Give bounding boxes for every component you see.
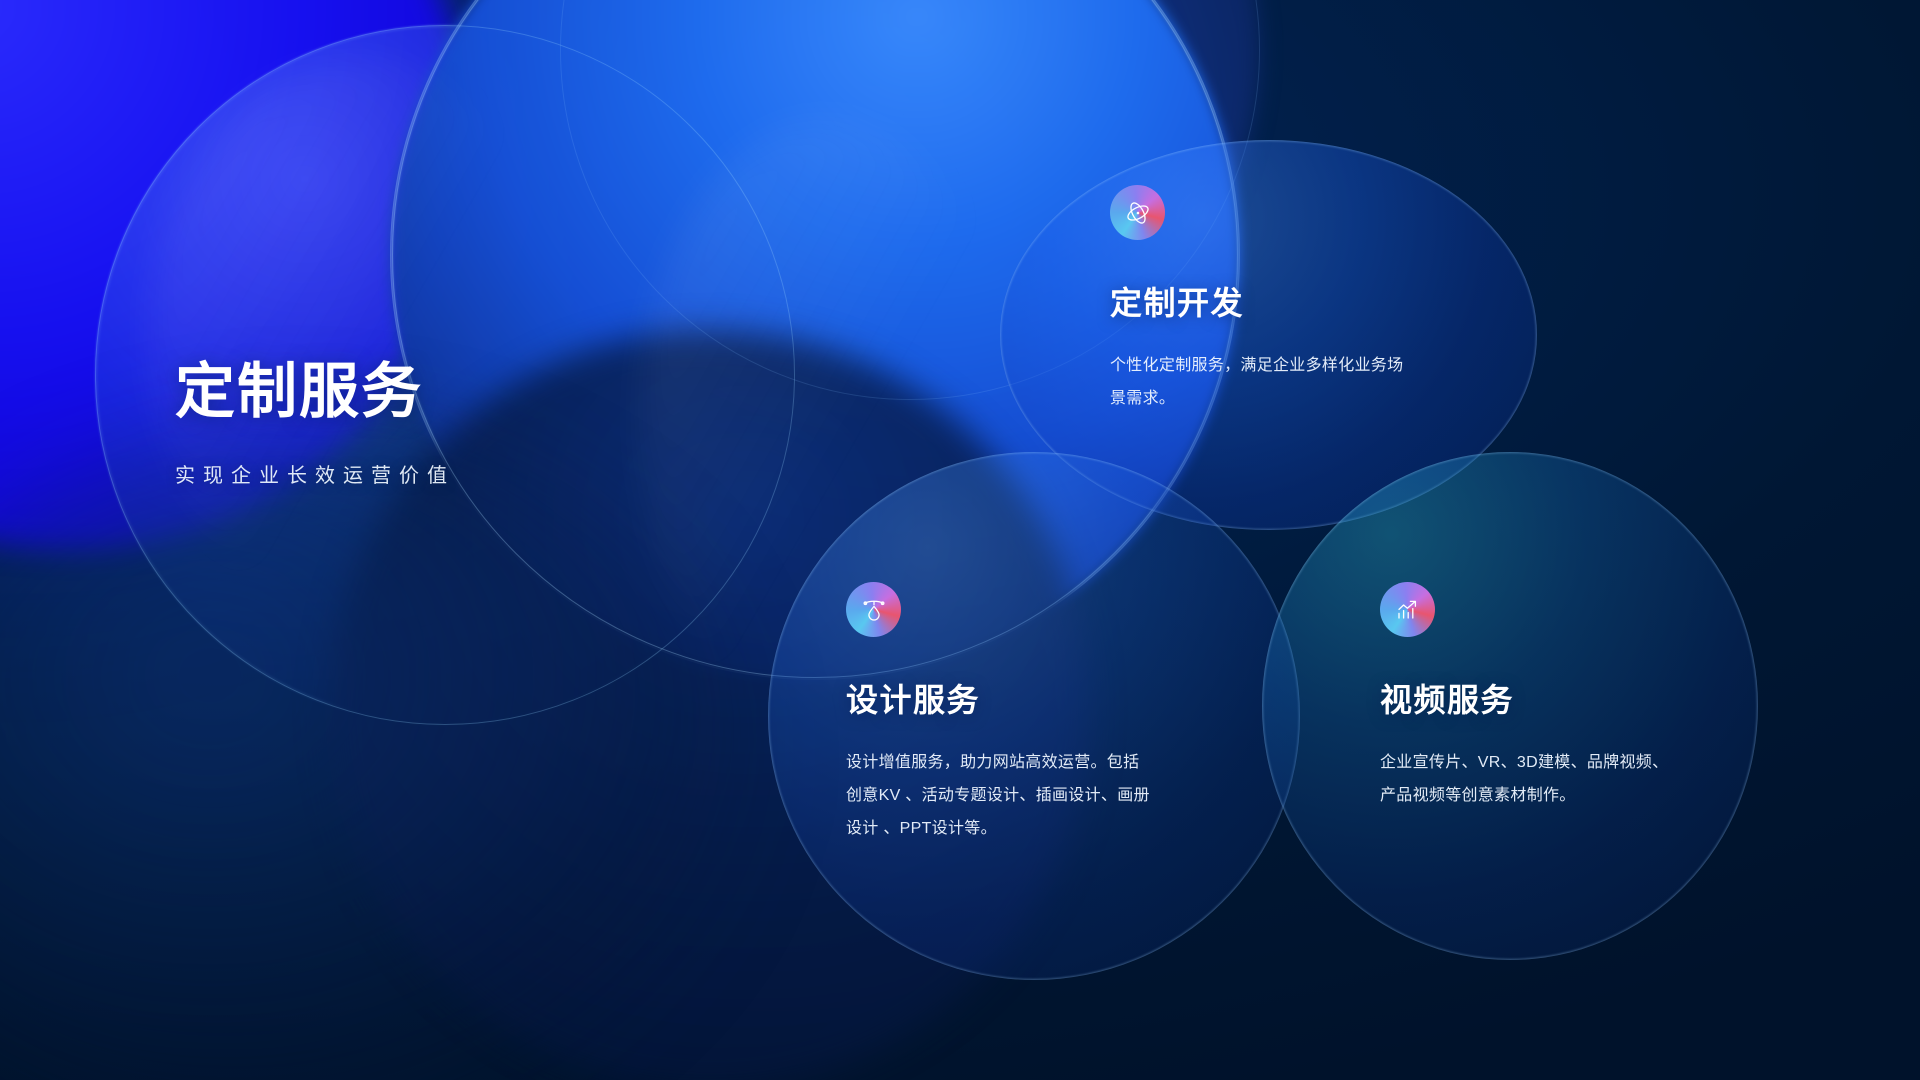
growth-chart-icon [1380, 582, 1435, 637]
card-description: 企业宣传片、VR、3D建模、品牌视频、产品视频等创意素材制作。 [1380, 747, 1680, 813]
card-description: 个性化定制服务，满足企业多样化业务场景需求。 [1110, 350, 1410, 416]
page-title: 定制服务 [175, 360, 455, 423]
hero-copy: 定制服务 实现企业长效运营价值 [175, 360, 455, 488]
pen-tool-ink-icon [846, 582, 901, 637]
card-title: 视频服务 [1380, 675, 1680, 721]
atom-orbit-glyph [1112, 187, 1164, 239]
page-subtitle: 实现企业长效运营价值 [175, 459, 455, 488]
service-card-video-service[interactable]: 视频服务 企业宣传片、VR、3D建模、品牌视频、产品视频等创意素材制作。 [1262, 452, 1758, 960]
card-content: 视频服务 企业宣传片、VR、3D建模、品牌视频、产品视频等创意素材制作。 [1380, 582, 1680, 813]
card-description: 设计增值服务，助力网站高效运营。包括创意KV 、活动专题设计、插画设计、画册设计… [846, 747, 1151, 845]
card-title: 定制开发 [1110, 278, 1410, 324]
card-content: 设计服务 设计增值服务，助力网站高效运营。包括创意KV 、活动专题设计、插画设计… [846, 582, 1151, 845]
card-content: 定制开发 个性化定制服务，满足企业多样化业务场景需求。 [1110, 185, 1410, 416]
card-title: 设计服务 [846, 675, 1151, 721]
atom-orbit-icon [1110, 185, 1165, 240]
hero-banner: 定制服务 实现企业长效运营价值 定制开发 个性化定制服务，满足企业多样化业务场景… [0, 0, 1920, 1080]
growth-chart-glyph [1382, 584, 1434, 636]
service-card-design-service[interactable]: 设计服务 设计增值服务，助力网站高效运营。包括创意KV 、活动专题设计、插画设计… [768, 452, 1300, 980]
pen-tool-ink-glyph [848, 584, 900, 636]
